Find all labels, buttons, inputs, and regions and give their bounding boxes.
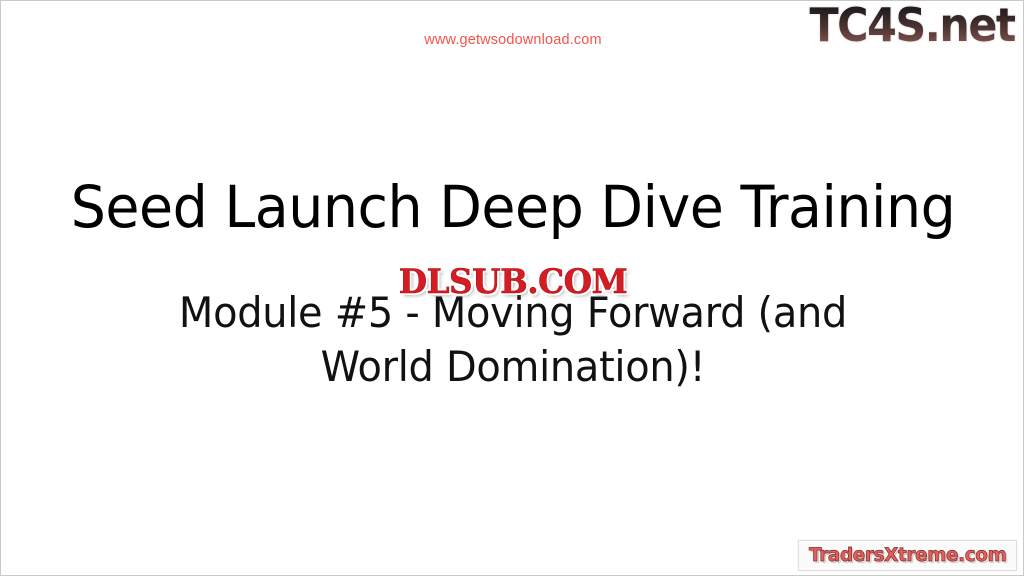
slide-subtitle-line-2: World Domination)! xyxy=(27,340,1000,394)
bottom-right-watermark: TradersXtreme.com xyxy=(798,540,1017,571)
slide-subtitle-line-1: Module #5 - Moving Forward (and xyxy=(27,286,1000,340)
bottom-right-watermark-text: TradersXtreme.com xyxy=(809,544,1006,566)
slide-canvas: www.getwsodownload.com TC4S.net TC4S.net… xyxy=(0,0,1024,576)
slide-subtitle: Module #5 - Moving Forward (and World Do… xyxy=(27,286,1000,394)
tc4s-logo: TC4S.net xyxy=(810,0,1015,55)
slide-title: Seed Launch Deep Dive Training xyxy=(24,173,1002,241)
